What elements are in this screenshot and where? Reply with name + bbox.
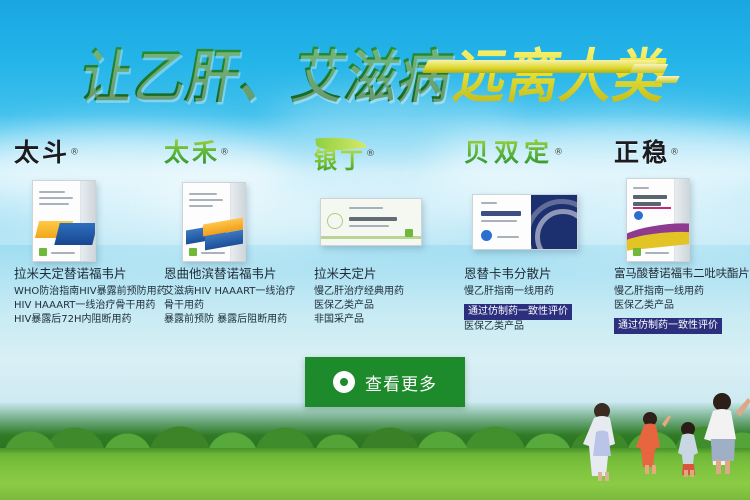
registered-mark-icon: ® [70, 148, 79, 158]
brand-name: 贝双定 [464, 138, 554, 167]
product-card[interactable]: 太斗® 拉米夫定替诺福韦片 WHO防治指南HIV暴露前预防用药 HIV HAAA… [0, 138, 150, 338]
brand-logo: 太斗® [14, 138, 146, 172]
brand-logo: 正稳® [614, 138, 746, 172]
headline-stripe-decoration [630, 64, 668, 73]
headline: 让乙肝、艾滋病远离人类 [0, 34, 750, 106]
family-figure-girl [628, 410, 672, 476]
product-card[interactable]: 太禾® 恩曲他滨替诺福韦片 艾滋病HIV HAAART一线治疗 骨干用药 暴露前… [150, 138, 300, 338]
product-card[interactable]: 银丁® 拉米夫定片 慢乙肝治疗经典用药 医保乙类产品 非国采产品 [300, 138, 450, 338]
registered-mark-icon: ® [366, 149, 375, 159]
product-image [464, 176, 596, 262]
brand-name: 银丁 [314, 147, 366, 174]
medicine-box [182, 182, 246, 262]
product-description: 慢乙肝指南一线用药 通过仿制药一致性评价 医保乙类产品 [464, 285, 596, 334]
brand-name: 太禾 [164, 138, 220, 167]
quality-consistency-badge: 通过仿制药一致性评价 [464, 304, 572, 320]
product-list: 太斗® 拉米夫定替诺福韦片 WHO防治指南HIV暴露前预防用药 HIV HAAA… [0, 138, 750, 338]
registered-mark-icon: ® [554, 148, 563, 158]
product-image [314, 176, 446, 262]
product-feature-line: 骨干用药 [164, 299, 296, 313]
brand-name: 太斗 [14, 138, 70, 167]
landscape-illustration [0, 390, 750, 500]
medicine-box [32, 180, 96, 262]
product-card[interactable]: 贝双定® 恩替卡韦分散片 慢乙肝指南一线用药 通过仿制药一致性评价 医保乙类产品 [450, 138, 600, 338]
product-name: 拉米夫定片 [314, 265, 446, 282]
promo-banner: 让乙肝、艾滋病远离人类 太斗® 拉米夫定替诺福韦片 [0, 0, 750, 500]
brand-logo: 贝双定® [464, 138, 596, 172]
product-feature-line: 医保乙类产品 [314, 299, 446, 313]
product-feature-line: 艾滋病HIV HAAART一线治疗 [164, 285, 296, 299]
medicine-box [320, 198, 422, 246]
product-description: WHO防治指南HIV暴露前预防用药 HIV HAAART一线治疗骨干用药 HIV… [14, 285, 146, 327]
medicine-box [472, 194, 578, 250]
brand-name: 正稳 [614, 138, 670, 167]
product-feature-line: 慢乙肝治疗经典用药 [314, 285, 446, 299]
product-image [164, 176, 296, 262]
family-figure-father [694, 392, 750, 480]
product-feature-line: 暴露前预防 暴露后阻断用药 [164, 313, 296, 327]
product-feature-line: 医保乙类产品 [464, 320, 596, 334]
product-name: 恩替卡韦分散片 [464, 265, 596, 282]
product-feature-line: 医保乙类产品 [614, 299, 746, 313]
product-feature-line: HIV HAAART一线治疗骨干用药 [14, 299, 146, 313]
brand-logo: 银丁® [314, 138, 446, 172]
product-name: 恩曲他滨替诺福韦片 [164, 265, 296, 282]
headline-stripe-decoration [654, 76, 679, 83]
product-description: 艾滋病HIV HAAART一线治疗 骨干用药 暴露前预防 暴露后阻断用药 [164, 285, 296, 327]
product-card[interactable]: 正稳® 富马酸替诺福韦二吡呋酯片 慢乙肝指南一线用药 医保乙类产品 [600, 138, 750, 338]
headline-green-text: 让乙肝、艾滋病 [75, 30, 461, 114]
product-feature-line: 慢乙肝指南一线用药 [614, 285, 746, 299]
quality-consistency-badge: 通过仿制药一致性评价 [614, 318, 722, 334]
product-feature-line: 慢乙肝指南一线用药 [464, 285, 596, 299]
family-figure-mother [576, 402, 628, 482]
product-description: 慢乙肝治疗经典用药 医保乙类产品 非国采产品 [314, 285, 446, 327]
registered-mark-icon: ® [670, 148, 679, 158]
product-image [14, 176, 146, 262]
headline-stripe-decoration [422, 60, 658, 73]
registered-mark-icon: ® [220, 148, 229, 158]
medicine-box [626, 178, 690, 262]
product-feature-line: HIV暴露后72H内阻断用药 [14, 313, 146, 327]
product-feature-line: 非国采产品 [314, 313, 446, 327]
product-feature-line: WHO防治指南HIV暴露前预防用药 [14, 285, 146, 299]
brand-logo: 太禾® [164, 138, 296, 172]
product-name: 富马酸替诺福韦二吡呋酯片 [614, 265, 746, 282]
product-description: 慢乙肝指南一线用药 医保乙类产品 通过仿制药一致性评价 [614, 285, 746, 334]
product-image [614, 176, 746, 262]
product-name: 拉米夫定替诺福韦片 [14, 265, 146, 282]
